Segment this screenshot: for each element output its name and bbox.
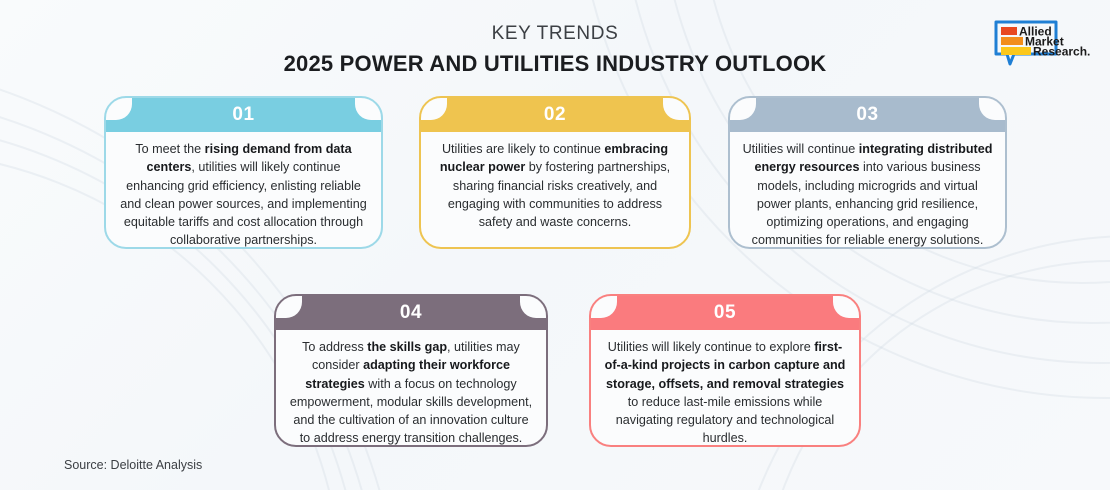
header-kicker: KEY TRENDS — [0, 22, 1110, 46]
card-text: Utilities will likely continue to explor… — [603, 338, 847, 447]
trend-card-04[interactable]: 04 To address the skills gap, utilities … — [274, 294, 548, 447]
card-number: 01 — [106, 98, 381, 132]
card-body: To meet the rising demand from data cent… — [106, 136, 381, 243]
logo-svg: Allied Market Research. — [992, 18, 1096, 68]
trend-card-01[interactable]: 01 To meet the rising demand from data c… — [104, 96, 383, 249]
page-title: 2025 POWER AND UTILITIES INDUSTRY OUTLOO… — [0, 50, 1110, 78]
card-number: 02 — [421, 98, 689, 132]
card-body: To address the skills gap, utilities may… — [276, 334, 546, 441]
trend-card-03[interactable]: 03 Utilities will continue integrating d… — [728, 96, 1007, 249]
infographic-canvas: KEY TRENDS 2025 POWER AND UTILITIES INDU… — [0, 0, 1110, 490]
card-text: Utilities will continue integrating dist… — [742, 140, 993, 249]
logo-text-line3: Research. — [1033, 45, 1090, 59]
card-text: To meet the rising demand from data cent… — [118, 140, 369, 249]
page-header: KEY TRENDS 2025 POWER AND UTILITIES INDU… — [0, 22, 1110, 77]
trend-card-02[interactable]: 02 Utilities are likely to continue embr… — [419, 96, 691, 249]
card-body: Utilities are likely to continue embraci… — [421, 136, 689, 243]
trend-card-05[interactable]: 05 Utilities will likely continue to exp… — [589, 294, 861, 447]
card-body: Utilities will likely continue to explor… — [591, 334, 859, 441]
card-number: 05 — [591, 296, 859, 330]
logo-bar-red — [1001, 27, 1017, 35]
source-note: Source: Deloitte Analysis — [64, 458, 202, 472]
card-number: 03 — [730, 98, 1005, 132]
card-text: Utilities are likely to continue embraci… — [433, 140, 677, 231]
allied-market-research-logo[interactable]: Allied Market Research. — [992, 18, 1096, 68]
card-number: 04 — [276, 296, 546, 330]
card-body: Utilities will continue integrating dist… — [730, 136, 1005, 243]
card-text: To address the skills gap, utilities may… — [288, 338, 534, 447]
